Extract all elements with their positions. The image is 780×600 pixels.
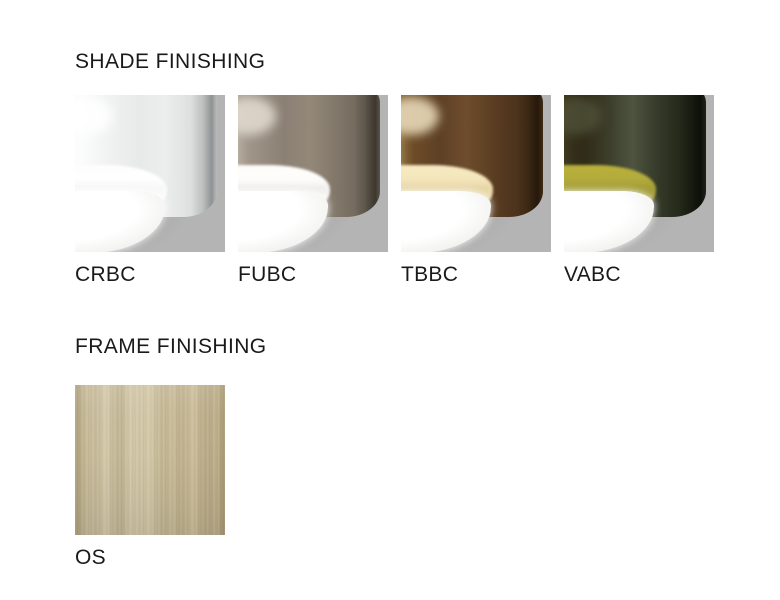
swatch-option-tbbc[interactable]: TBBC	[401, 95, 551, 286]
brushed-brass-shading	[75, 385, 225, 535]
swatch-option-vabc[interactable]: VABC	[564, 95, 714, 286]
glass-right-rim	[191, 95, 217, 217]
shade-swatch-label-tbbc: TBBC	[401, 264, 551, 286]
glass-right-rim	[680, 95, 706, 217]
shade-swatch-image-tbbc[interactable]	[401, 95, 551, 252]
frame-swatch-row: OS	[75, 385, 225, 569]
swatch-option-fubc[interactable]: FUBC	[238, 95, 388, 286]
shade-swatch-image-crbc[interactable]	[75, 95, 225, 252]
shade-swatch-label-fubc: FUBC	[238, 264, 388, 286]
glass-right-rim	[354, 95, 380, 217]
white-diffuser-bowl	[75, 191, 165, 252]
swatch-option-crbc[interactable]: CRBC	[75, 95, 225, 286]
glass-right-rim	[517, 95, 543, 217]
shade-swatch-label-crbc: CRBC	[75, 264, 225, 286]
shade-swatch-image-vabc[interactable]	[564, 95, 714, 252]
glass-pendant-lamp-illustration	[401, 95, 543, 252]
white-diffuser-bowl	[564, 191, 654, 252]
glass-pendant-lamp-illustration	[564, 95, 706, 252]
glass-pendant-lamp-illustration	[238, 95, 380, 252]
swatch-option-os[interactable]: OS	[75, 385, 225, 569]
shade-swatch-label-vabc: VABC	[564, 264, 714, 286]
glass-pendant-lamp-illustration	[75, 95, 217, 252]
frame-finishing-heading: FRAME FINISHING	[75, 336, 267, 357]
shade-swatch-image-fubc[interactable]	[238, 95, 388, 252]
shade-swatch-row: CRBC FUBC	[75, 95, 714, 286]
white-diffuser-bowl	[401, 191, 491, 252]
frame-swatch-image-os[interactable]	[75, 385, 225, 535]
frame-swatch-label-os: OS	[75, 547, 225, 569]
finishing-options-page: SHADE FINISHING CRBC	[0, 0, 780, 600]
white-diffuser-bowl	[238, 191, 328, 252]
shade-finishing-heading: SHADE FINISHING	[75, 51, 265, 72]
